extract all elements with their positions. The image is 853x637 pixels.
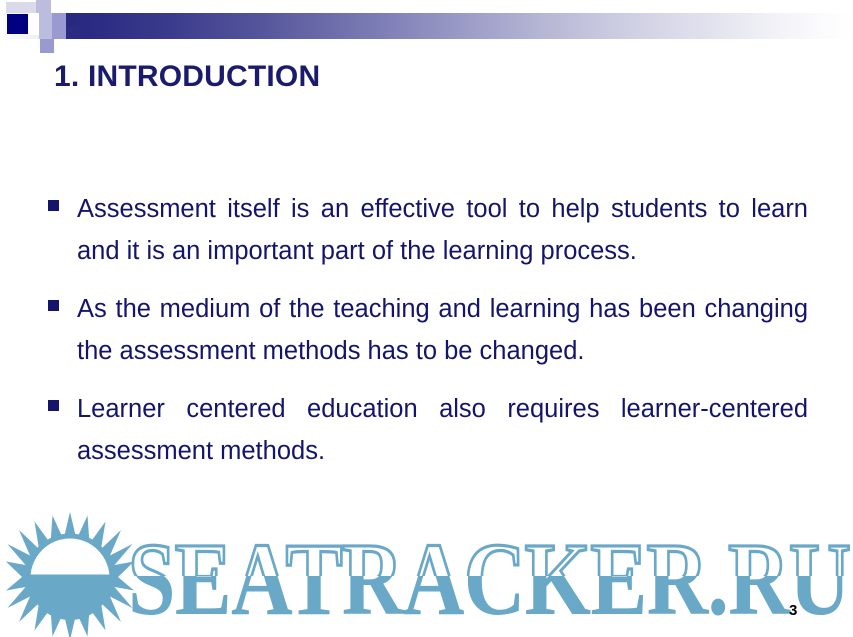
corner-square-3 [22, 2, 36, 13]
corner-square-9 [40, 39, 54, 53]
svg-text:SEATRACKER.RU: SEATRACKER.RU [128, 530, 850, 622]
page-number: 3 [789, 602, 797, 619]
list-item: Learner centered education also requires… [48, 388, 808, 472]
watermark-overlay: SEATRACKER.RU SEATRACKER.RU [0, 508, 853, 637]
watermark-text: SEATRACKER.RU SEATRACKER.RU [128, 530, 853, 622]
presentation-slide: 1. INTRODUCTION Assessment itself is an … [0, 0, 853, 637]
square-bullet-icon [48, 400, 59, 411]
corner-square-10 [54, 39, 80, 53]
square-bullet-icon [48, 300, 59, 311]
sunburst-logo-icon [6, 512, 134, 637]
corner-square-1 [6, 2, 22, 13]
list-item: As the medium of the teaching and learni… [48, 288, 808, 372]
list-item: Assessment itself is an effective tool t… [48, 188, 808, 272]
page-title: 1. INTRODUCTION [54, 60, 320, 94]
header-gradient-band [53, 13, 853, 39]
bullet-text: Assessment itself is an effective tool t… [77, 188, 808, 272]
svg-text:SEATRACKER.RU: SEATRACKER.RU [128, 530, 850, 622]
bullet-list: Assessment itself is an effective tool t… [48, 188, 808, 488]
corner-square-8 [66, 26, 80, 39]
corner-square-4 [39, 13, 52, 26]
corner-square-5 [52, 13, 66, 26]
bullet-text: Learner centered education also requires… [77, 388, 808, 472]
corner-square-white [28, 13, 39, 35]
bullet-text: As the medium of the teaching and learni… [77, 288, 808, 372]
square-bullet-icon [48, 200, 59, 211]
corner-square-6 [39, 26, 52, 39]
corner-square-7 [52, 26, 66, 39]
corner-square-2 [36, 0, 51, 13]
corner-square-navy [7, 14, 28, 34]
